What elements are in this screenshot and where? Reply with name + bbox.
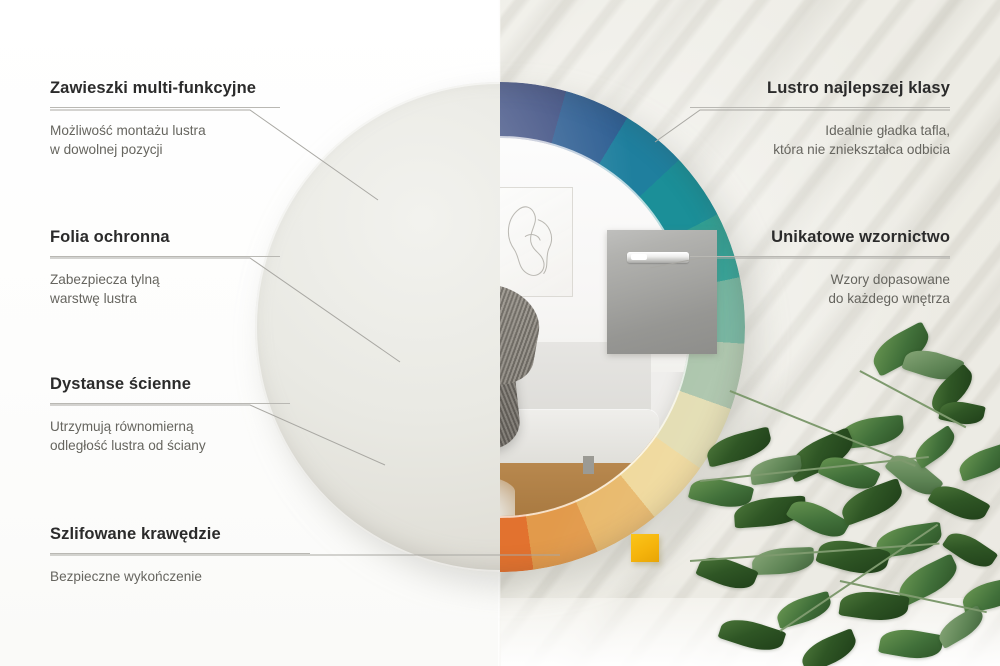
- leaf: [956, 442, 1000, 482]
- callout-desc: Idealnie gładka tafla, która nie znieksz…: [690, 121, 950, 160]
- callout-rule: [690, 107, 950, 108]
- callout-rule: [50, 403, 290, 404]
- leaf: [878, 625, 944, 663]
- callout-rule: [50, 553, 310, 554]
- callout-rule: [50, 256, 280, 257]
- callout-wall-spacers: Dystanse ścienne Utrzymują równomierną o…: [50, 375, 290, 456]
- callout-desc: Wzory dopasowane do każdego wnętrza: [690, 270, 950, 309]
- callout-best-class-mirror: Lustro najlepszej klasy Idealnie gładka …: [690, 79, 950, 160]
- callout-desc: Utrzymują równomierną odległość lustra o…: [50, 417, 290, 456]
- callout-desc: Bezpieczne wykończenie: [50, 567, 310, 586]
- callout-hangers: Zawieszki multi-funkcyjne Możliwość mont…: [50, 79, 280, 160]
- callout-unique-design: Unikatowe wzornictwo Wzory dopasowane do…: [690, 228, 950, 309]
- leaf: [774, 591, 834, 630]
- callout-title: Zawieszki multi-funkcyjne: [50, 79, 280, 98]
- callout-rule: [690, 256, 950, 257]
- callout-title: Lustro najlepszej klasy: [690, 79, 950, 98]
- leaf: [934, 605, 988, 649]
- callout-title: Dystanse ścienne: [50, 375, 290, 394]
- leaf: [910, 425, 960, 469]
- callout-desc: Zabezpiecza tylną warstwę lustra: [50, 270, 280, 309]
- callout-ground-edges: Szlifowane krawędzie Bezpieczne wykończe…: [50, 525, 310, 586]
- infographic-stage: Zawieszki multi-funkcyjne Możliwość mont…: [0, 0, 1000, 666]
- callout-desc: Możliwość montażu lustra w dowolnej pozy…: [50, 121, 280, 160]
- decorative-plant-leaves: [690, 330, 1000, 666]
- callout-rule: [50, 107, 280, 108]
- leaf: [718, 613, 787, 658]
- callout-title: Unikatowe wzornictwo: [690, 228, 950, 247]
- callout-title: Folia ochronna: [50, 228, 280, 247]
- leaf: [797, 628, 861, 666]
- callout-protective-foil: Folia ochronna Zabezpiecza tylną warstwę…: [50, 228, 280, 309]
- callout-title: Szlifowane krawędzie: [50, 525, 310, 544]
